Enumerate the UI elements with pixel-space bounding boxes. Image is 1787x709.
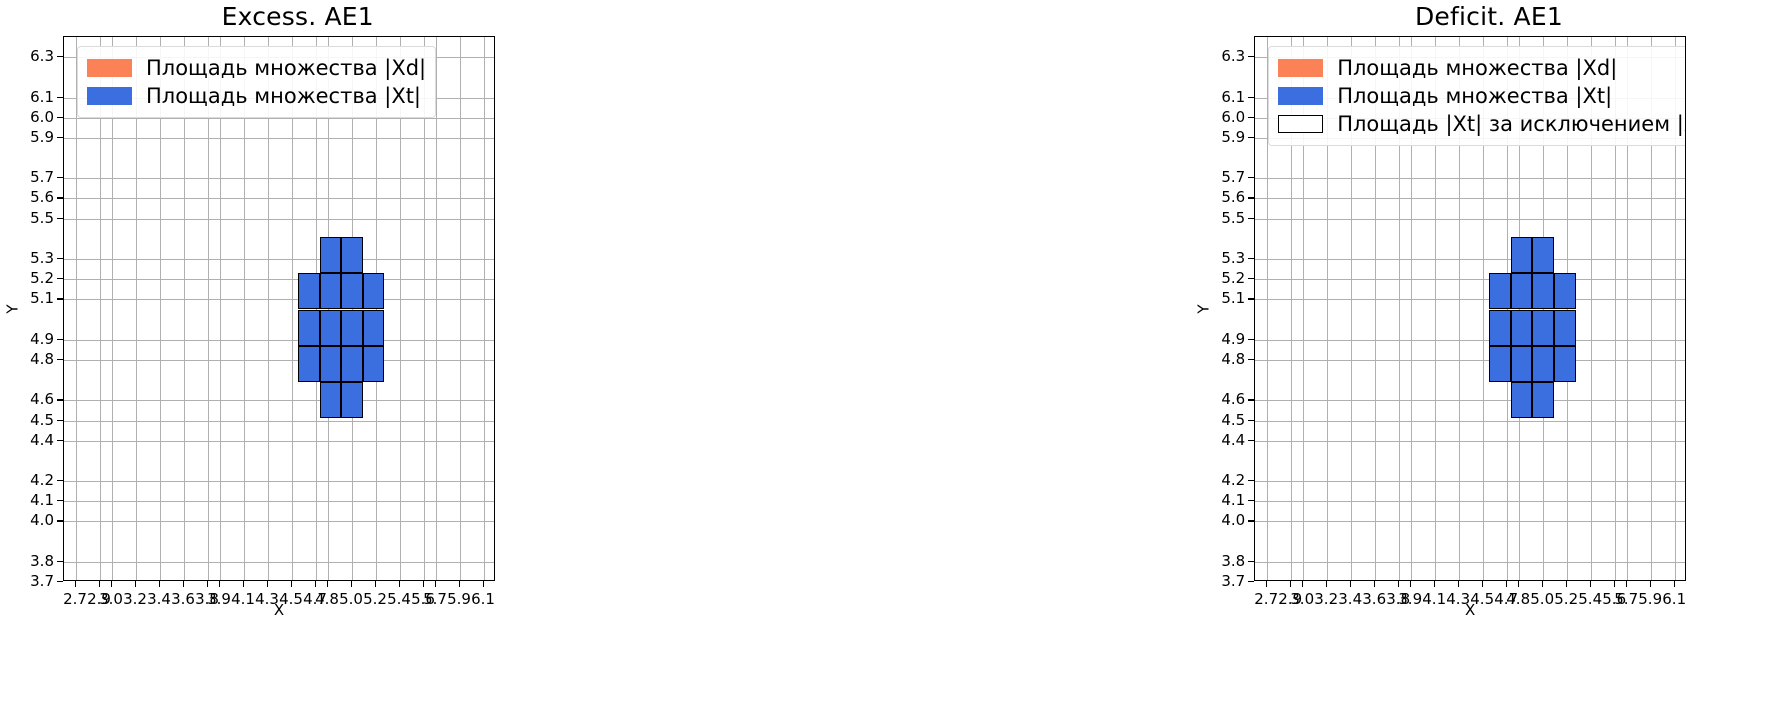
legend-swatch-blue-fill <box>1278 87 1323 105</box>
y-tick-mark <box>57 218 63 219</box>
x-tick-label: 4.5 <box>1470 592 1494 607</box>
x-tick-mark <box>327 581 328 587</box>
gridline-horizontal <box>1255 400 1685 401</box>
panel-title: Deficit. AE1 <box>1191 2 1787 32</box>
data-cell <box>1511 237 1533 273</box>
x-tick-mark <box>243 581 244 587</box>
data-cell <box>363 273 385 309</box>
x-tick-label: 6.1 <box>471 592 495 607</box>
x-tick-label: 3.9 <box>207 592 231 607</box>
data-cell <box>320 273 342 309</box>
data-cell <box>1511 382 1533 418</box>
gridline-horizontal <box>64 562 494 563</box>
x-tick-mark <box>1326 581 1327 587</box>
y-tick-label: 5.9 <box>1191 130 1245 145</box>
x-tick-mark <box>135 581 136 587</box>
x-tick-label: 3.6 <box>1362 592 1386 607</box>
plot-area: Площадь множества |Xd|Площадь множества … <box>63 36 495 581</box>
y-tick-mark <box>57 197 63 198</box>
x-tick-mark <box>351 581 352 587</box>
y-tick-mark <box>1248 440 1254 441</box>
legend-swatch-orange-fill <box>87 59 132 77</box>
gridline-horizontal <box>64 400 494 401</box>
y-tick-mark <box>57 500 63 501</box>
gridline-horizontal <box>1255 178 1685 179</box>
x-tick-mark <box>1566 581 1567 587</box>
data-cell <box>1554 310 1576 346</box>
x-tick-label: 2.7 <box>1254 592 1278 607</box>
plot-area: Площадь множества |Xd|Площадь множества … <box>1254 36 1686 581</box>
x-tick-label: 4.5 <box>279 592 303 607</box>
y-tick-label: 4.1 <box>1191 493 1245 508</box>
y-tick-label: 5.2 <box>0 271 54 286</box>
y-tick-label: 5.5 <box>0 211 54 226</box>
y-tick-label: 5.1 <box>0 291 54 306</box>
y-tick-mark <box>57 561 63 562</box>
legend: Площадь множества |Xd|Площадь множества … <box>1268 46 1686 146</box>
x-tick-mark <box>1434 581 1435 587</box>
x-tick-label: 5.4 <box>1578 592 1602 607</box>
y-tick-mark <box>57 399 63 400</box>
y-tick-label: 4.8 <box>0 352 54 367</box>
y-tick-label: 4.2 <box>1191 473 1245 488</box>
y-tick-label: 6.3 <box>0 49 54 64</box>
x-tick-mark <box>1266 581 1267 587</box>
y-tick-mark <box>1248 480 1254 481</box>
x-tick-mark <box>1542 581 1543 587</box>
data-cell <box>341 237 363 273</box>
x-tick-label: 4.8 <box>1506 592 1530 607</box>
data-cell <box>1489 273 1511 309</box>
x-tick-mark <box>219 581 220 587</box>
data-cell <box>1532 237 1554 273</box>
x-tick-mark <box>99 581 100 587</box>
gridline-horizontal <box>1255 441 1685 442</box>
x-tick-mark <box>399 581 400 587</box>
data-cell <box>320 237 342 273</box>
gridline-horizontal <box>64 299 494 300</box>
y-tick-label: 5.2 <box>1191 271 1245 286</box>
y-tick-label: 5.1 <box>1191 291 1245 306</box>
y-tick-mark <box>57 137 63 138</box>
x-tick-label: 5.2 <box>363 592 387 607</box>
y-tick-label: 4.4 <box>0 433 54 448</box>
data-cell <box>363 310 385 346</box>
data-cell <box>298 273 320 309</box>
y-tick-label: 4.9 <box>0 332 54 347</box>
gridline-horizontal <box>1255 259 1685 260</box>
y-tick-label: 4.0 <box>0 513 54 528</box>
y-tick-label: 5.7 <box>1191 170 1245 185</box>
gridline-horizontal <box>1255 299 1685 300</box>
x-tick-mark <box>423 581 424 587</box>
gridline-horizontal <box>64 138 494 139</box>
data-cell <box>1532 382 1554 418</box>
y-tick-mark <box>57 97 63 98</box>
x-tick-mark <box>1506 581 1507 587</box>
legend-label: Площадь множества |Xt| <box>1337 84 1612 108</box>
x-tick-mark <box>291 581 292 587</box>
gridline-horizontal <box>64 481 494 482</box>
y-tick-mark <box>57 581 63 582</box>
y-tick-label: 3.7 <box>1191 574 1245 589</box>
x-tick-mark <box>267 581 268 587</box>
y-tick-mark <box>1248 561 1254 562</box>
gridline-horizontal <box>64 501 494 502</box>
y-tick-mark <box>1248 137 1254 138</box>
x-tick-mark <box>1350 581 1351 587</box>
y-tick-mark <box>1248 298 1254 299</box>
y-tick-label: 5.5 <box>1191 211 1245 226</box>
gridline-horizontal <box>64 360 494 361</box>
y-tick-mark <box>57 420 63 421</box>
legend-item: Площадь множества |Xd| <box>87 54 426 82</box>
y-tick-mark <box>57 258 63 259</box>
x-tick-label: 6.1 <box>1662 592 1686 607</box>
x-tick-label: 3.4 <box>1338 592 1362 607</box>
y-tick-label: 5.6 <box>0 190 54 205</box>
y-tick-mark <box>1248 520 1254 521</box>
data-cell <box>1511 346 1533 382</box>
x-tick-mark <box>1290 581 1291 587</box>
data-cell <box>1532 273 1554 309</box>
y-tick-mark <box>1248 258 1254 259</box>
x-tick-label: 4.8 <box>315 592 339 607</box>
data-cell <box>1511 310 1533 346</box>
panel-title: Excess. AE1 <box>0 2 596 32</box>
data-cell <box>298 346 320 382</box>
gridline-horizontal <box>1255 421 1685 422</box>
gridline-horizontal <box>1255 481 1685 482</box>
x-tick-mark <box>207 581 208 587</box>
x-tick-label: 5.9 <box>447 592 471 607</box>
x-tick-label: 5.0 <box>339 592 363 607</box>
x-tick-label: 3.4 <box>147 592 171 607</box>
y-tick-label: 4.0 <box>1191 513 1245 528</box>
y-tick-label: 4.5 <box>1191 413 1245 428</box>
y-tick-label: 4.2 <box>0 473 54 488</box>
x-tick-mark <box>1374 581 1375 587</box>
y-tick-mark <box>1248 500 1254 501</box>
x-tick-mark <box>1398 581 1399 587</box>
y-tick-label: 3.7 <box>0 574 54 589</box>
legend: Площадь множества |Xd|Площадь множества … <box>77 46 436 118</box>
data-cell <box>1554 346 1576 382</box>
legend-label: Площадь множества |Xd| <box>146 56 426 80</box>
x-tick-mark <box>111 581 112 587</box>
legend-swatch-blue-fill <box>87 87 132 105</box>
gridline-horizontal <box>1255 279 1685 280</box>
gridline-horizontal <box>64 279 494 280</box>
y-tick-label: 5.7 <box>0 170 54 185</box>
y-tick-label: 4.6 <box>0 392 54 407</box>
y-tick-mark <box>57 177 63 178</box>
gridline-horizontal <box>64 198 494 199</box>
data-cell <box>1489 310 1511 346</box>
y-tick-mark <box>1248 117 1254 118</box>
x-tick-label: 3.6 <box>171 592 195 607</box>
y-tick-label: 6.1 <box>0 90 54 105</box>
y-tick-label: 4.6 <box>1191 392 1245 407</box>
data-cell <box>341 382 363 418</box>
data-cell <box>341 310 363 346</box>
x-tick-label: 4.1 <box>1422 592 1446 607</box>
gridline-horizontal <box>64 219 494 220</box>
y-tick-label: 5.9 <box>0 130 54 145</box>
x-tick-mark <box>159 581 160 587</box>
x-tick-mark <box>1302 581 1303 587</box>
y-tick-mark <box>57 520 63 521</box>
x-tick-label: 5.7 <box>1614 592 1638 607</box>
data-cell <box>363 346 385 382</box>
gridline-horizontal <box>64 340 494 341</box>
legend-item: Площадь множества |Xt| <box>1278 82 1686 110</box>
chart-panel-2: Deficit. AE1YXПлощадь множества |Xd|Площ… <box>1191 0 1787 709</box>
y-tick-label: 3.8 <box>1191 554 1245 569</box>
x-tick-label: 5.9 <box>1638 592 1662 607</box>
x-tick-mark <box>483 581 484 587</box>
data-cell <box>320 346 342 382</box>
x-tick-mark <box>1674 581 1675 587</box>
gridline-horizontal <box>64 259 494 260</box>
y-tick-label: 3.8 <box>0 554 54 569</box>
y-tick-mark <box>1248 420 1254 421</box>
x-tick-mark <box>1614 581 1615 587</box>
y-tick-mark <box>57 339 63 340</box>
x-tick-label: 5.4 <box>387 592 411 607</box>
data-cell <box>298 310 320 346</box>
y-tick-mark <box>57 359 63 360</box>
x-tick-label: 4.3 <box>255 592 279 607</box>
x-tick-label: 2.7 <box>63 592 87 607</box>
y-tick-label: 6.0 <box>1191 110 1245 125</box>
y-tick-mark <box>1248 218 1254 219</box>
x-tick-label: 3.9 <box>1398 592 1422 607</box>
x-tick-mark <box>1482 581 1483 587</box>
x-tick-mark <box>1626 581 1627 587</box>
data-cell <box>341 346 363 382</box>
data-cell <box>1532 346 1554 382</box>
x-tick-mark <box>1518 581 1519 587</box>
y-tick-label: 5.6 <box>1191 190 1245 205</box>
figure-root: Excess. AE1YXПлощадь множества |Xd|Площа… <box>0 0 1787 709</box>
gridline-horizontal <box>1255 340 1685 341</box>
gridline-horizontal <box>64 521 494 522</box>
x-tick-label: 5.7 <box>423 592 447 607</box>
y-tick-mark <box>1248 177 1254 178</box>
x-tick-label: 3.2 <box>123 592 147 607</box>
x-tick-mark <box>1410 581 1411 587</box>
x-tick-label: 5.2 <box>1554 592 1578 607</box>
y-tick-mark <box>57 278 63 279</box>
gridline-horizontal <box>1255 219 1685 220</box>
y-tick-mark <box>57 298 63 299</box>
y-tick-label: 6.0 <box>0 110 54 125</box>
data-cell <box>1511 273 1533 309</box>
data-cell <box>320 382 342 418</box>
x-tick-mark <box>459 581 460 587</box>
y-tick-mark <box>57 440 63 441</box>
legend-label: Площадь множества |Xd| <box>1337 56 1617 80</box>
x-tick-label: 4.1 <box>231 592 255 607</box>
y-tick-label: 6.3 <box>1191 49 1245 64</box>
x-tick-label: 3.2 <box>1314 592 1338 607</box>
gridline-horizontal <box>1255 521 1685 522</box>
y-tick-mark <box>57 56 63 57</box>
x-tick-label: 3.0 <box>99 592 123 607</box>
gridline-horizontal <box>1255 562 1685 563</box>
gridline-horizontal <box>64 178 494 179</box>
y-tick-mark <box>1248 278 1254 279</box>
x-tick-mark <box>75 581 76 587</box>
x-tick-mark <box>1650 581 1651 587</box>
data-cell <box>1554 273 1576 309</box>
x-tick-mark <box>375 581 376 587</box>
legend-swatch-orange-fill <box>1278 59 1323 77</box>
x-tick-mark <box>315 581 316 587</box>
legend-label: Площадь |Xt| за исключением |Xd| (|Xt\Xd… <box>1337 112 1686 136</box>
y-tick-label: 4.5 <box>0 413 54 428</box>
legend-label: Площадь множества |Xt| <box>146 84 421 108</box>
data-cell <box>1489 346 1511 382</box>
gridline-horizontal <box>64 441 494 442</box>
legend-item: Площадь множества |Xd| <box>1278 54 1686 82</box>
y-tick-mark <box>1248 56 1254 57</box>
x-tick-mark <box>435 581 436 587</box>
y-tick-mark <box>1248 399 1254 400</box>
y-tick-label: 5.3 <box>1191 251 1245 266</box>
legend-item: Площадь множества |Xt| <box>87 82 426 110</box>
y-tick-mark <box>1248 581 1254 582</box>
legend-swatch-white-outline <box>1278 115 1323 133</box>
y-tick-mark <box>57 117 63 118</box>
x-tick-label: 5.0 <box>1530 592 1554 607</box>
legend-item: Площадь |Xt| за исключением |Xd| (|Xt\Xd… <box>1278 110 1686 138</box>
x-tick-label: 4.3 <box>1446 592 1470 607</box>
y-tick-label: 4.9 <box>1191 332 1245 347</box>
gridline-horizontal <box>64 421 494 422</box>
y-tick-label: 4.4 <box>1191 433 1245 448</box>
x-tick-label: 3.0 <box>1290 592 1314 607</box>
y-tick-mark <box>1248 339 1254 340</box>
y-tick-label: 5.3 <box>0 251 54 266</box>
y-tick-label: 4.1 <box>0 493 54 508</box>
data-cell <box>1532 310 1554 346</box>
gridline-horizontal <box>1255 360 1685 361</box>
y-tick-mark <box>1248 97 1254 98</box>
gridline-horizontal <box>1255 198 1685 199</box>
y-tick-label: 6.1 <box>1191 90 1245 105</box>
chart-panel-1: Excess. AE1YXПлощадь множества |Xd|Площа… <box>0 0 596 709</box>
x-tick-mark <box>183 581 184 587</box>
x-tick-mark <box>1458 581 1459 587</box>
gridline-horizontal <box>1255 501 1685 502</box>
y-tick-mark <box>1248 197 1254 198</box>
data-cell <box>341 273 363 309</box>
x-tick-mark <box>1590 581 1591 587</box>
y-tick-label: 4.8 <box>1191 352 1245 367</box>
y-tick-mark <box>57 480 63 481</box>
y-tick-mark <box>1248 359 1254 360</box>
data-cell <box>320 310 342 346</box>
